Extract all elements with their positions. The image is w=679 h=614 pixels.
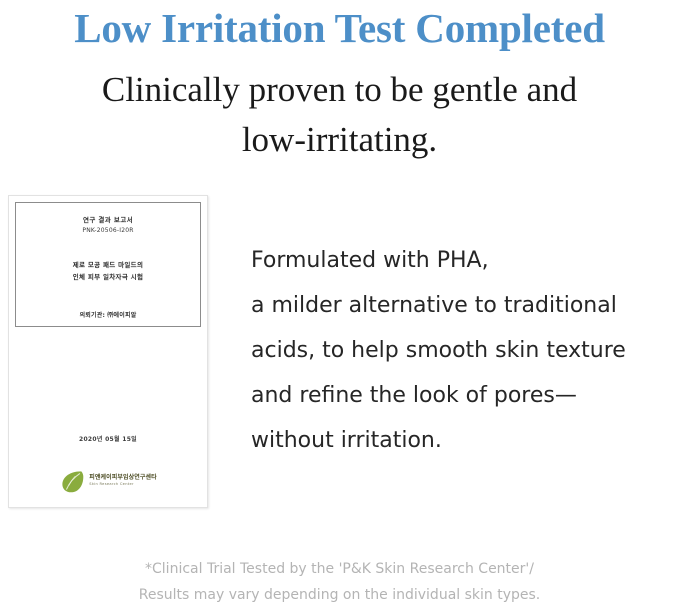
certificate-subject: 제로 모공 패드 마일드의 인체 피부 일차자극 시험	[16, 259, 200, 283]
certificate-logo-name-ko: 피앤케이피부임상연구센타	[89, 475, 156, 482]
certificate-client: 의뢰기관: ㈜에이피알	[16, 310, 200, 319]
footer-disclaimer: *Clinical Trial Tested by the 'P&K Skin …	[0, 556, 679, 608]
body-copy-line-3: acids, to help smooth skin texture	[251, 328, 671, 373]
body-copy-line-5: without irritation.	[251, 418, 671, 463]
footer-line-1: *Clinical Trial Tested by the 'P&K Skin …	[0, 556, 679, 582]
certificate-logo: 피앤케이피부임상연구센타 Skin Research Center	[9, 464, 207, 498]
subheadline-line-2: low-irritating.	[55, 115, 624, 165]
subheadline-line-1: Clinically proven to be gentle and	[102, 70, 577, 109]
page-headline: Low Irritation Test Completed	[0, 0, 679, 49]
certificate-image: 연구 결과 보고서 PNK-20506-I20R 제로 모공 패드 마일드의 인…	[8, 195, 208, 508]
certificate-report-code: PNK-20506-I20R	[16, 227, 200, 234]
body-copy-line-1: Formulated with PHA,	[251, 238, 671, 283]
certificate-header-box: 연구 결과 보고서 PNK-20506-I20R 제로 모공 패드 마일드의 인…	[15, 202, 201, 327]
certificate-logo-name-en: Skin Research Center	[89, 483, 156, 487]
certificate-report-title: 연구 결과 보고서	[16, 215, 200, 225]
certificate-subject-line-2: 인체 피부 일차자극 시험	[16, 271, 200, 283]
page-subheadline: Clinically proven to be gentle and low-i…	[0, 49, 679, 164]
certificate-date: 2020년 05월 15일	[9, 434, 207, 443]
body-copy-line-2: a milder alternative to traditional	[251, 283, 671, 328]
body-copy-line-4: and refine the look of pores—	[251, 373, 671, 418]
certificate-logo-text: 피앤케이피부임상연구센타 Skin Research Center	[89, 475, 156, 487]
footer-line-2: Results may vary depending on the indivi…	[0, 582, 679, 608]
content-band: 연구 결과 보고서 PNK-20506-I20R 제로 모공 패드 마일드의 인…	[0, 186, 679, 526]
certificate-subject-line-1: 제로 모공 패드 마일드의	[16, 259, 200, 271]
leaf-icon	[59, 468, 86, 495]
body-copy: Formulated with PHA, a milder alternativ…	[251, 238, 671, 463]
